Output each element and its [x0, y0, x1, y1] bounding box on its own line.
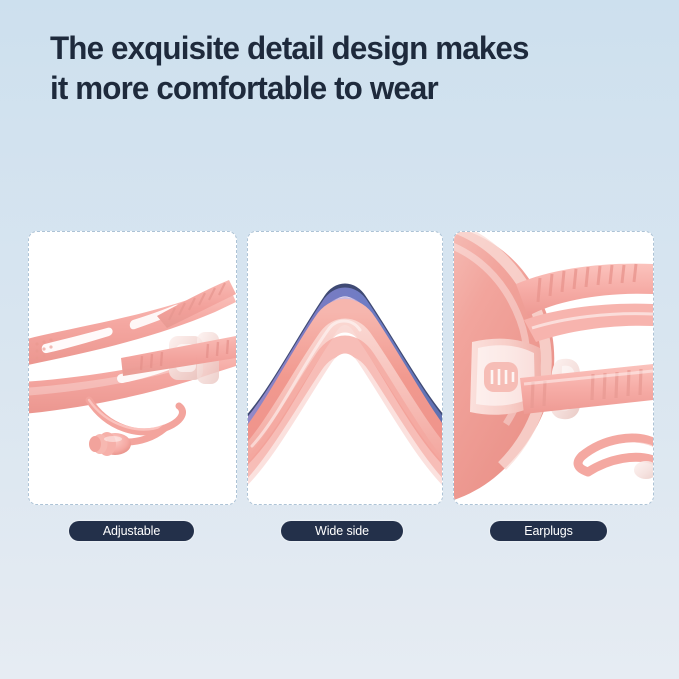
product-photo-adjustable	[29, 232, 236, 504]
badge-slot-earplugs: Earplugs	[449, 520, 648, 542]
product-photo-earplugs	[454, 232, 653, 504]
feature-panel-earplugs	[453, 231, 654, 505]
badge-slot-wide-side: Wide side	[245, 520, 439, 542]
status-badge-wide-side: Wide side	[281, 521, 403, 541]
status-badge-adjustable: Adjustable	[69, 521, 194, 541]
feature-badge-row: Adjustable Wide side Earplugs	[28, 520, 652, 542]
status-badge-earplugs: Earplugs	[490, 521, 607, 541]
page-title: The exquisite detail design makes it mor…	[50, 28, 629, 108]
badge-slot-adjustable: Adjustable	[28, 520, 235, 542]
feature-panel-row	[28, 231, 652, 505]
product-photo-wide-side	[248, 232, 442, 504]
feature-panel-adjustable	[28, 231, 237, 505]
feature-panel-wide-side	[247, 231, 443, 505]
promo-banner: The exquisite detail design makes it mor…	[0, 0, 679, 679]
